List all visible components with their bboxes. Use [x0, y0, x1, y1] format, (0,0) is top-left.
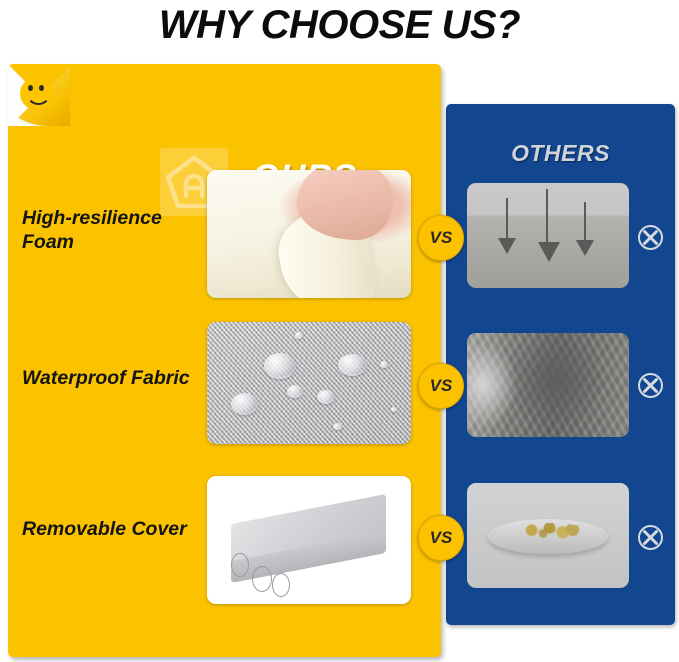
x-circle-icon-3 [637, 524, 664, 551]
feature-label-cover: Removable Cover [22, 517, 202, 541]
ours-photo-removable-cover [207, 476, 411, 604]
smiley-face-icon [20, 77, 53, 110]
ours-photo-foam [207, 170, 411, 298]
vs-badge-1: VS [418, 215, 464, 261]
others-photo-sagging-foam [467, 183, 629, 288]
feature-label-foam: High-resilience Foam [22, 206, 202, 254]
others-photo-stained-cushion [467, 483, 629, 588]
others-photo-wet-fabric [467, 333, 629, 437]
feature-label-fabric: Waterproof Fabric [22, 366, 202, 390]
others-heading: OTHERS [446, 140, 675, 167]
x-circle-icon-1 [637, 224, 664, 251]
vs-badge-2: VS [418, 363, 464, 409]
ours-photo-waterproof-fabric [207, 322, 411, 444]
vs-badge-3: VS [418, 515, 464, 561]
x-circle-icon-2 [637, 372, 664, 399]
page-title: WHY CHOOSE US? [0, 0, 679, 52]
